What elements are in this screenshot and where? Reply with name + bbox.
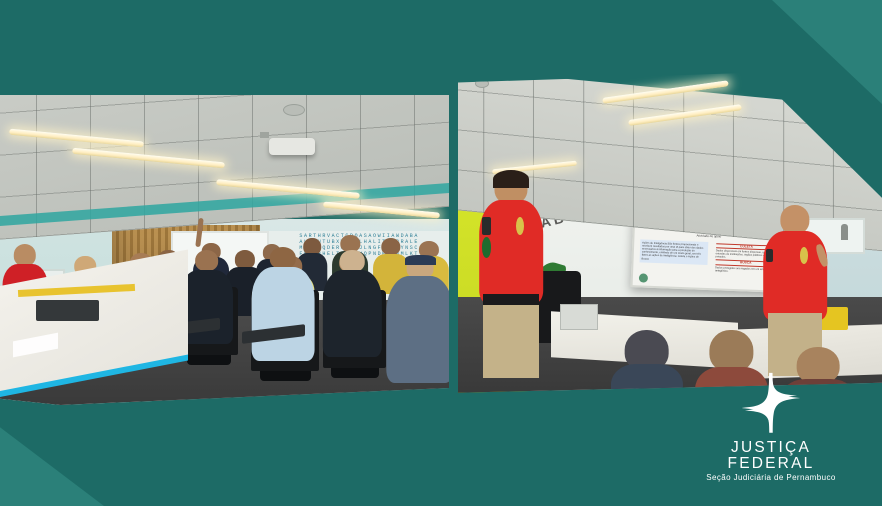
accent-wedge-top-right xyxy=(772,0,882,104)
left-photo-scene: SARTHRVACTCDQASAOWIIAWDABA ALMSUTUBXWOVI… xyxy=(0,95,449,405)
uniform-shoulder-patch xyxy=(482,217,491,235)
photo-left-auditorium: SARTHRVACTCDQASAOWIIAWDABA ALMSUTUBXWOVI… xyxy=(0,95,449,405)
slide-body-busca: Dados protegidos ora negados em um ambie… xyxy=(715,266,771,273)
desk-monitor xyxy=(560,304,598,330)
cap-icon xyxy=(405,255,436,265)
presenter-hair xyxy=(493,170,529,188)
right-photo-scene: LABORATÓRIO DE INOVAÇ Noções de Operaçõe… xyxy=(458,66,882,396)
presenter-trousers xyxy=(483,296,539,378)
logo-division-name: Seção Judiciária de Pernambuco xyxy=(688,474,854,482)
uniform-shoulder-patch xyxy=(766,249,774,262)
audience-person-foreground xyxy=(386,256,449,380)
av-equipment-box xyxy=(36,300,99,322)
audience-person xyxy=(323,250,381,355)
institutional-seal-icon xyxy=(638,274,647,283)
foreground-attendee xyxy=(611,330,683,396)
ceiling-projector xyxy=(269,138,315,155)
presenter-right-photo-foreground xyxy=(479,172,543,377)
accent-wedge-bottom-left xyxy=(0,410,104,506)
slide-left-column: Ações de Inteligência São fontes proporc… xyxy=(639,239,708,265)
promo-banner: SARTHRVACTCDQASAOWIIAWDABA ALMSUTUBXWOVI… xyxy=(0,0,882,506)
uniform-round-patch xyxy=(482,237,492,257)
justica-federal-logo: JUSTIÇA FEDERAL Seção Judiciária de Pern… xyxy=(688,372,854,482)
logo-organization-name: JUSTIÇA FEDERAL xyxy=(688,440,854,471)
presenter-belt xyxy=(483,294,539,304)
audience-person-front xyxy=(251,247,314,359)
four-pointed-star-icon xyxy=(740,372,802,434)
shelf-figurine xyxy=(841,224,848,240)
photo-right-innovation-lab: LABORATÓRIO DE INOVAÇ Noções de Operaçõe… xyxy=(458,66,882,396)
